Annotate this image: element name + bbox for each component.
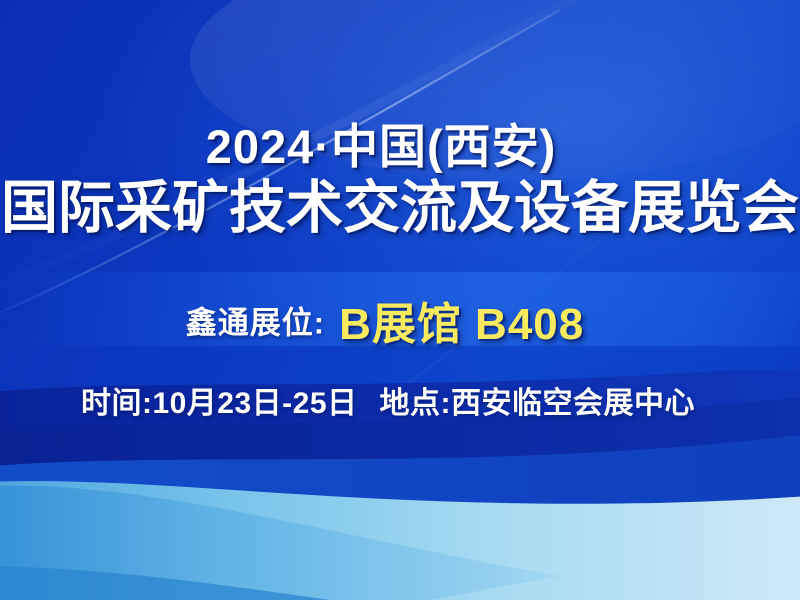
event-venue: 地点:西安临空会展中心 [380,387,696,420]
booth-row: 鑫通展位:B展馆 B408 [0,288,800,352]
exhibition-poster: 2024·中国(西安) 国际采矿技术交流及设备展览会 鑫通展位:B展馆 B408… [0,0,800,600]
poster-content: 2024·中国(西安) 国际采矿技术交流及设备展览会 鑫通展位:B展馆 B408… [0,0,800,600]
booth-label: 鑫通展位: [186,306,325,341]
event-date: 时间:10月23日-25日 [81,387,358,420]
event-info-row: 时间:10月23日-25日地点:西安临空会展中心 [0,378,800,422]
title-line-year-city: 2024·中国(西安) [0,118,800,176]
title-line-event-name: 国际采矿技术交流及设备展览会 [0,176,800,240]
poster-title: 2024·中国(西安) 国际采矿技术交流及设备展览会 [0,118,800,240]
booth-number: B展馆 B408 [339,300,584,349]
